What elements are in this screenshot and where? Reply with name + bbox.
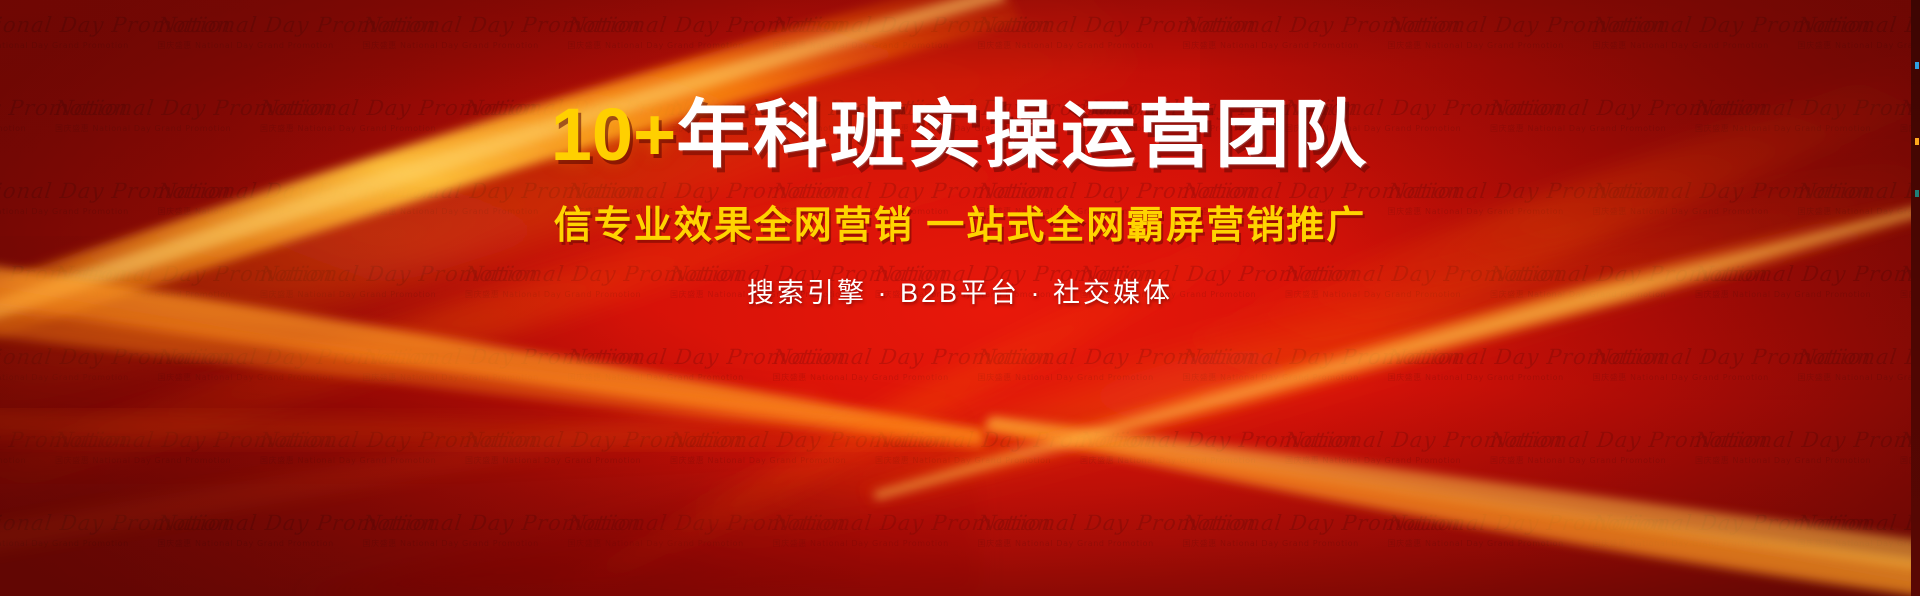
- headline-gold-part: 10+: [551, 93, 677, 176]
- tagline: 搜索引擎 · B2B平台 · 社交媒体: [0, 249, 1920, 310]
- edge-artifact-dot-orange: [1915, 138, 1919, 145]
- promotional-banner: National Day Promotion国庆盛惠 National Day …: [0, 0, 1920, 596]
- right-edge-strip: [1911, 0, 1920, 596]
- headline: 10+年科班实操运营团队: [0, 0, 1920, 172]
- subline: 信专业效果全网营销 一站式全网霸屏营销推广: [0, 172, 1920, 249]
- edge-artifact-dot-blue: [1915, 62, 1919, 69]
- edge-artifact-dot-teal: [1915, 190, 1919, 197]
- headline-white-part: 年科班实操运营团队: [676, 93, 1369, 176]
- banner-content: 10+年科班实操运营团队 信专业效果全网营销 一站式全网霸屏营销推广 搜索引擎 …: [0, 0, 1920, 310]
